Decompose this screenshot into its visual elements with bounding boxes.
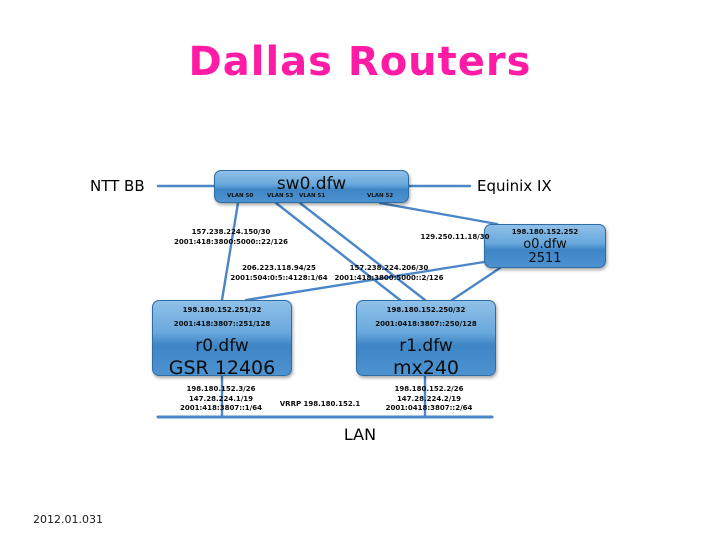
label-ntt-bb: NTT BB: [90, 177, 145, 195]
annotation-vrrp: VRRP 198.180.152.1: [264, 400, 376, 410]
link-vlan51-to-r1: [300, 203, 425, 300]
annotation-vrrp-line1: VRRP 198.180.152.1: [264, 400, 376, 410]
node-o0-dfw[interactable]: 198.180.152.252 o0.dfw 2511: [484, 224, 606, 268]
label-equinix-ix: Equinix IX: [477, 177, 552, 195]
sw0-name: sw0.dfw: [215, 171, 408, 194]
page-title: Dallas Routers: [0, 38, 720, 86]
annotation-lan-right: 198.180.152.2/26 147.28.224.2/19 2001:04…: [366, 385, 492, 414]
annotation-ix-peering-line2: 2001:504:0:5::4128:1/64: [226, 274, 332, 284]
o0-model: 2511: [485, 252, 605, 266]
annotation-ntt-oob-line1: 129.250.11.18/30: [400, 233, 510, 243]
r1-model: mx240: [357, 357, 495, 379]
label-lan: LAN: [0, 425, 720, 444]
vlan-label-53: VLAN 53: [267, 193, 293, 199]
r1-address-v6: 2001:0418:3807::250/128: [357, 320, 495, 329]
slide-canvas: Dallas Routers NTT BB Equinix IX LAN sw0…: [0, 0, 720, 540]
r0-address-v4: 198.180.152.251/32: [153, 306, 291, 315]
vlan-label-50: VLAN 50: [227, 193, 253, 199]
annotation-lan-right-line3: 2001:0418:3807::2/64: [366, 404, 492, 414]
r0-model: GSR 12406: [153, 357, 291, 379]
r0-name: r0.dfw: [153, 336, 291, 357]
footer-date: 2012.01.031: [33, 513, 103, 526]
node-r1-dfw[interactable]: 198.180.152.250/32 2001:0418:3807::250/1…: [356, 300, 496, 376]
link-o0-to-r1: [452, 268, 500, 300]
vlan-label-row: VLAN 50 VLAN 53 VLAN 51 VLAN 52: [215, 193, 410, 203]
link-vlan50-to-r0: [222, 203, 238, 300]
link-vlan52-to-o0: [380, 203, 497, 224]
node-sw0-dfw[interactable]: sw0.dfw VLAN 50 VLAN 53 VLAN 51 VLAN 52: [214, 170, 409, 203]
annotation-ntt-uplink: 157.238.224.150/30 2001:418:3800:5000::2…: [166, 228, 296, 247]
annotation-lan-right-line2: 147.28.224.2/19: [366, 395, 492, 405]
annotation-ix-peering: 206.223.118.94/25 2001:504:0:5::4128:1/6…: [226, 264, 332, 283]
annotation-lan-right-line1: 198.180.152.2/26: [366, 385, 492, 395]
vlan-label-52: VLAN 52: [367, 193, 393, 199]
annotation-ix-peering-line1: 206.223.118.94/25: [226, 264, 332, 274]
annotation-ntt-uplink-line2: 2001:418:3800:5000::22/126: [166, 238, 296, 248]
annotation-ntt-uplink-line1: 157.238.224.150/30: [166, 228, 296, 238]
annotation-r1-uplink-line2: 2001:418:3800:5000::2/126: [330, 274, 448, 284]
annotation-r1-uplink-line1: 157.238.224.206/30: [330, 264, 448, 274]
r0-address-v6: 2001:418:3807::251/128: [153, 320, 291, 329]
r1-address-v4: 198.180.152.250/32: [357, 306, 495, 315]
annotation-r1-uplink: 157.238.224.206/30 2001:418:3800:5000::2…: [330, 264, 448, 283]
annotation-ntt-oob: 129.250.11.18/30: [400, 233, 510, 243]
r1-name: r1.dfw: [357, 336, 495, 357]
link-vlan53-to-r1: [276, 203, 400, 300]
vlan-label-51: VLAN 51: [299, 193, 325, 199]
annotation-lan-left-line1: 198.180.152.3/26: [160, 385, 282, 395]
node-r0-dfw[interactable]: 198.180.152.251/32 2001:418:3807::251/12…: [152, 300, 292, 376]
